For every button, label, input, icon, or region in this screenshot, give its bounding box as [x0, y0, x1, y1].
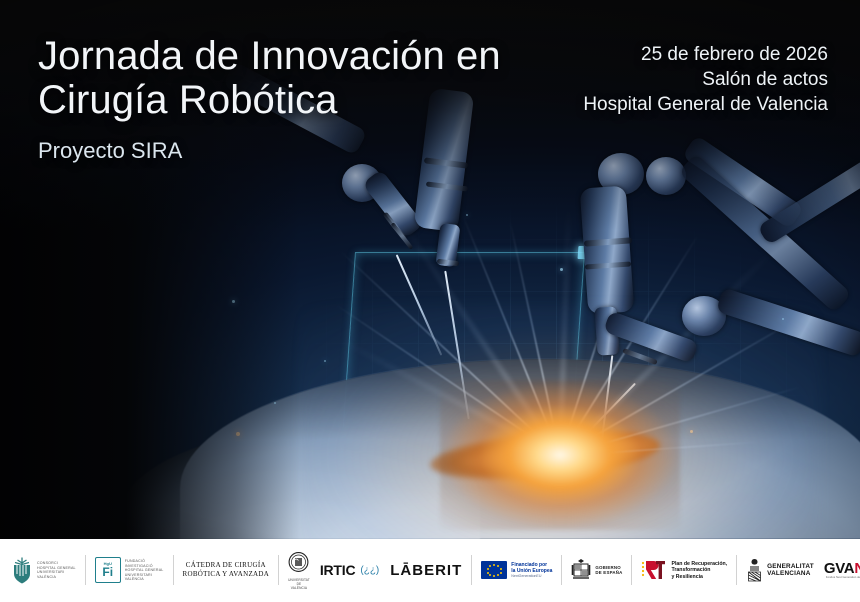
logo-divider [561, 555, 562, 585]
logo-universitat-valencia: UNIVERSITAT DE VALÈNCIA [283, 550, 315, 590]
project-subtitle: Proyecto SIRA [38, 138, 568, 164]
logo-divider [85, 555, 86, 585]
logo-divider [631, 555, 632, 585]
logo-financiado-union-europea: Financiado por la Unión Europea NextGene… [476, 561, 557, 579]
logo-divider [173, 555, 174, 585]
event-date: 25 de febrero de 2026 [583, 42, 828, 67]
logo-divider [736, 555, 737, 585]
logo-divider [278, 555, 279, 585]
logo-gva-text: GENERALITAT VALENCIANA [767, 563, 814, 578]
logo-laberit: LĀBERIT [385, 562, 467, 579]
logo-consorci-text: CONSORCI HOSPITAL GENERAL UNIVERSITARI V… [37, 561, 76, 579]
page-title-line-2: Cirugía Robótica [38, 78, 568, 122]
logo-uv-group: UNIVERSITAT DE VALÈNCIA [288, 550, 310, 590]
event-venue: Salón de actos [583, 67, 828, 92]
eu-flag-icon [481, 561, 507, 579]
prtr-logo-icon [641, 558, 667, 582]
irtic-wordmark: IRTIC [320, 562, 356, 578]
gva-next-wordmark: GVANEXT [824, 561, 860, 576]
logo-catedra-cirugia-robotica: CÁTEDRA DE CIRUGÍA ROBÓTICA Y AVANZADA [178, 561, 275, 579]
consorci-shield-icon [11, 557, 33, 584]
logo-irtic: IRTIC (¿¿) [315, 562, 385, 578]
logo-consorci-hospital-general: CONSORCI HOSPITAL GENERAL UNIVERSITARI V… [6, 557, 81, 584]
logo-divider [471, 555, 472, 585]
hgu-fi-icon: HgU Fi [95, 557, 121, 583]
logo-gobierno-text: GOBIERNO DE ESPAÑA [595, 565, 622, 576]
gva-next-subtitle: Fondos Next Generation de la Comunitat V… [824, 576, 860, 580]
universitat-valencia-seal-icon [288, 550, 309, 574]
logo-gobierno-de-espana: GOBIERNO DE ESPAÑA [566, 558, 627, 582]
logo-gva-next: GVANEXT Fondos Next Generation de la Com… [819, 561, 860, 580]
logo-fundacio-text: FUNDACIÓ INVESTIGACIÓ HOSPITAL GENERAL U… [125, 559, 164, 582]
logo-generalitat-valenciana: GENERALITAT VALENCIANA [741, 558, 819, 583]
irtic-bracket-icon: (¿¿) [360, 565, 379, 576]
logo-plan-recuperacion: Plan de Recuperación, Transformación y R… [636, 558, 732, 582]
spain-coat-of-arms-icon [571, 558, 591, 582]
poster-headline: Jornada de Innovación en Cirugía Robótic… [38, 34, 568, 164]
eu-funding-text: Financiado por la Unión Europea NextGene… [511, 562, 552, 579]
event-poster: Jornada de Innovación en Cirugía Robótic… [0, 0, 860, 602]
event-location: Hospital General de Valencia [583, 92, 828, 117]
logo-fundacio-investigacio: HgU Fi FUNDACIÓ INVESTIGACIÓ HOSPITAL GE… [90, 557, 169, 583]
generalitat-valenciana-seal-icon [746, 558, 763, 583]
logo-catedra-text: CÁTEDRA DE CIRUGÍA ROBÓTICA Y AVANZADA [183, 561, 270, 579]
page-title-line-1: Jornada de Innovación en [38, 34, 568, 78]
gva-next-group: GVANEXT Fondos Next Generation de la Com… [824, 561, 860, 580]
sponsor-logo-bar: CONSORCI HOSPITAL GENERAL UNIVERSITARI V… [0, 539, 860, 602]
event-details: 25 de febrero de 2026 Salón de actos Hos… [583, 42, 828, 117]
logo-prtr-text: Plan de Recuperación, Transformación y R… [671, 561, 727, 580]
laberit-wordmark: LĀBERIT [390, 562, 462, 579]
